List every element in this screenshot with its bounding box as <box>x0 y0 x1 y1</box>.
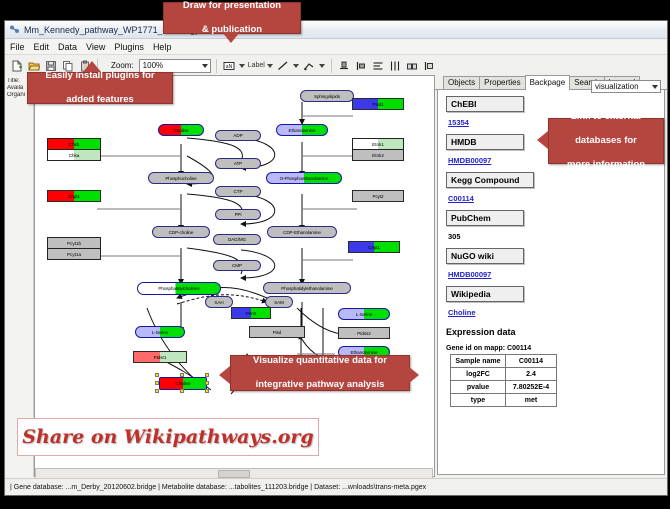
callout-easily-install-plugins: Easily install plugins for added feature… <box>27 72 173 104</box>
table-row: type met <box>451 394 557 407</box>
line-icon[interactable] <box>276 58 291 73</box>
node-label: SAM <box>274 300 284 305</box>
gene-pcyt1b[interactable]: Pcyt1b <box>48 238 100 248</box>
gene-pcyt2[interactable]: Pcyt2 <box>352 190 404 202</box>
menu-item-file[interactable]: File <box>10 42 25 52</box>
node-choline-top[interactable]: Choline <box>158 124 204 136</box>
node-phosphocholine[interactable]: Phosphocholine <box>148 172 214 184</box>
callout-visualize-quantitative-data: Visualize quantitative data for integrat… <box>230 355 410 391</box>
share-banner-text: Share on Wikipathways.org <box>22 426 313 448</box>
size-match-icon[interactable] <box>405 58 420 73</box>
db-header-wikipedia: Wikipedia <box>446 286 524 302</box>
node-label: PPi <box>235 212 242 217</box>
menu-item-help[interactable]: Help <box>153 42 172 52</box>
node-label: Phosphocholine <box>165 176 196 181</box>
callout-link-to-external-databases: Link to external databases for more info… <box>548 118 664 164</box>
node-label: Choline <box>176 381 191 386</box>
gene-label: Chkb <box>69 142 80 147</box>
db-link-kegg[interactable]: C00114 <box>448 194 474 203</box>
node-phosphatidylethanolamine[interactable]: Phosphatidylethanolamine <box>263 282 351 294</box>
scrollbar-thumb[interactable] <box>218 470 250 478</box>
expr-key: type <box>451 394 506 407</box>
callout-arrow-right-visualize <box>408 366 419 384</box>
node-label: Phosphatidylethanolamine <box>281 286 333 291</box>
gene-pisd[interactable]: Pisd <box>249 326 305 338</box>
node-label: CDP-choline <box>169 230 194 235</box>
db-header-hmdb: HMDB <box>446 134 524 150</box>
label-dropdown-label: Label <box>248 62 265 69</box>
gene-ptdss2[interactable]: Ptdss2 <box>338 327 390 339</box>
expr-key: Sample name <box>451 355 506 368</box>
interaction-dropdown[interactable] <box>319 59 326 73</box>
gene-box-chk[interactable]: Chkb Chka <box>47 138 101 161</box>
title-bar: Mm_Kennedy_pathway_WP1771_45176.gpml <box>5 21 667 39</box>
gene-box-pcyt1[interactable]: Pcyt1b Pcyt1a <box>47 237 101 260</box>
toolbar-separator <box>331 59 332 73</box>
db-link-nugo[interactable]: HMDB00097 <box>448 270 491 279</box>
stack-icon[interactable] <box>422 58 437 73</box>
node-sah[interactable]: SAH <box>205 296 233 308</box>
db-header-nugo: NuGO wiki <box>446 248 524 264</box>
node-label: ADP <box>233 133 242 138</box>
gene-label: Etnk1 <box>372 142 384 147</box>
node-ppi[interactable]: PPi <box>215 209 261 220</box>
pathway-info-strip: Title: Availa Organi <box>5 75 34 477</box>
node-label: CDP-Ethanolamine <box>283 230 321 235</box>
gene-chkb[interactable]: Chkb <box>48 139 100 149</box>
node-adp[interactable]: ADP <box>215 130 261 141</box>
gene-label: Ptdsr1 <box>154 355 167 360</box>
gene-label: Pcyt2 <box>373 194 384 199</box>
expression-table: Sample name C00114 log2FC 2.4 pvalue 7.8… <box>450 354 557 407</box>
gene-pcyt1a[interactable]: Pcyt1a <box>48 248 100 259</box>
gene-label: Pcyt1b <box>67 241 81 246</box>
tab-properties[interactable]: Properties <box>479 76 525 89</box>
node-label: Phosphatidylcholines <box>158 286 199 291</box>
node-ethanolamine-top[interactable]: Ethanolamine <box>276 124 328 136</box>
node-dag-mg[interactable]: DAG/MG <box>213 234 261 245</box>
menu-item-view[interactable]: View <box>86 42 105 52</box>
distribute-horizontal-icon[interactable] <box>388 58 403 73</box>
toolbar-separator <box>216 59 217 73</box>
tab-objects[interactable]: Objects <box>443 76 480 89</box>
pathvisio-icon <box>9 24 20 35</box>
node-atp[interactable]: ATP <box>215 158 261 169</box>
menu-bar[interactable]: File Edit Data View Plugins Help <box>5 39 667 55</box>
callout-arrow-up-plugins <box>83 61 101 72</box>
node-label: CTP <box>234 189 243 194</box>
db-link-hmdb[interactable]: HMDB00097 <box>448 156 491 165</box>
expr-key: log2FC <box>451 368 506 381</box>
callout-arrow-down <box>222 32 240 43</box>
expr-value: C00114 <box>506 355 557 368</box>
callout-line: Visualize quantitative data for <box>253 355 387 367</box>
interaction-icon[interactable] <box>302 58 317 73</box>
tab-backpage[interactable]: Backpage <box>525 75 571 90</box>
gene-etnk1[interactable]: Etnk1 <box>353 139 403 149</box>
share-banner: Share on Wikipathways.org <box>17 418 319 456</box>
node-label: Ethanolamine <box>351 350 378 355</box>
gene-pemt[interactable]: Pemt <box>231 307 271 319</box>
table-row: Sample name C00114 <box>451 355 557 368</box>
distribute-vertical-icon[interactable] <box>371 58 386 73</box>
db-value-pubchem: 305 <box>448 232 461 241</box>
gene-box-etnk[interactable]: Etnk1 Etnk2 <box>352 138 404 161</box>
expr-value: 7.80252E-4 <box>506 381 557 394</box>
node-l-serine-right[interactable]: L-Serine <box>338 308 390 320</box>
align-top-icon[interactable] <box>337 58 352 73</box>
node-l-serine-left[interactable]: L-Serine <box>135 326 185 338</box>
expr-value: 2.4 <box>506 368 557 381</box>
db-header-chebi: ChEBI <box>446 96 524 112</box>
status-bar: | Gene database: ...m_Derby_20120602.bri… <box>5 478 667 495</box>
gene-label: Pisd1 <box>373 102 384 107</box>
callout-line: added features <box>45 94 154 106</box>
node-label: CMP <box>232 263 242 268</box>
expression-data-heading: Expression data <box>446 327 664 337</box>
callout-line: more information <box>567 159 645 171</box>
db-link-wikipedia[interactable]: Choline <box>448 308 476 317</box>
gene-chka[interactable]: Chka <box>48 149 100 160</box>
gene-chpt1[interactable]: Chpt1 <box>47 190 101 202</box>
db-header-kegg: Kegg Compound <box>446 172 534 188</box>
zoom-label: Zoom: <box>111 61 134 70</box>
node-o-phosphoethanolamine[interactable]: O-Phosphoethanolamine <box>266 172 342 184</box>
node-label: L-Serine <box>152 330 169 335</box>
label-dropdown[interactable] <box>267 59 274 73</box>
callout-draw-for-presentation: Draw for presentation & publication <box>163 2 301 34</box>
db-header-pubchem: PubChem <box>446 210 524 226</box>
chevron-down-icon[interactable] <box>652 85 658 89</box>
menu-item-edit[interactable]: Edit <box>34 42 50 52</box>
visualization-combo-value: visualization <box>595 82 639 91</box>
svg-text:aN: aN <box>226 63 233 69</box>
node-label: Ethanolamine <box>289 128 316 133</box>
gene-label: Cept1 <box>368 245 380 250</box>
gene-label: Chpt1 <box>68 194 80 199</box>
table-row: log2FC 2.4 <box>451 368 557 381</box>
gene-label: Pcyt1a <box>67 252 81 257</box>
node-cmp[interactable]: CMP <box>213 260 261 271</box>
gene-etnk2[interactable]: Etnk2 <box>353 149 403 160</box>
node-cdp-choline[interactable]: CDP-choline <box>152 226 210 238</box>
open-folder-icon[interactable] <box>26 58 41 73</box>
node-label: SAH <box>214 300 223 305</box>
new-document-icon[interactable] <box>9 58 24 73</box>
callout-arrow-left-databases <box>537 131 548 149</box>
callout-line: Link to external <box>567 111 645 123</box>
gene-label: Pemt <box>246 311 256 316</box>
node-label: DAG/MG <box>228 237 246 242</box>
pathway-canvas[interactable]: Sphingolipids Choline Ethanolamine ADP A… <box>34 75 435 477</box>
screen-root: Mm_Kennedy_pathway_WP1771_45176.gpml Fil… <box>0 0 670 509</box>
node-label: L-Serine <box>356 312 373 317</box>
status-bar-text: | Gene database: ...m_Derby_20120602.bri… <box>5 484 426 491</box>
expr-key: pvalue <box>451 381 506 394</box>
datanode-dropdown[interactable] <box>239 59 246 73</box>
visualization-combo[interactable]: visualization <box>591 80 661 93</box>
align-left-icon[interactable] <box>354 58 369 73</box>
node-label: O-Phosphoethanolamine <box>280 176 329 181</box>
node-phosphatidylcholines[interactable]: Phosphatidylcholines <box>137 282 221 295</box>
menu-item-plugins[interactable]: Plugins <box>114 42 144 52</box>
menu-item-data[interactable]: Data <box>58 42 77 52</box>
gene-label: Chka <box>69 153 80 158</box>
node-label: Choline <box>174 128 189 133</box>
gene-label: Etnk2 <box>372 153 384 158</box>
db-link-chebi[interactable]: 15354 <box>448 118 469 127</box>
node-label: Sphingolipids <box>314 94 340 99</box>
gene-cept1[interactable]: Cept1 <box>348 241 400 253</box>
gene-pisd1[interactable]: Pisd1 <box>352 98 404 110</box>
callout-arrow-left-visualize <box>219 366 230 384</box>
callout-line: Draw for presentation <box>183 0 281 12</box>
pathway-drawing[interactable]: Sphingolipids Choline Ethanolamine ADP A… <box>35 76 434 476</box>
zoom-value: 100% <box>143 61 163 70</box>
line-dropdown[interactable] <box>293 59 300 73</box>
gene-ptdsr1[interactable]: Ptdsr1 <box>133 351 187 363</box>
callout-line: databases for <box>567 135 645 147</box>
table-row: pvalue 7.80252E-4 <box>451 381 557 394</box>
gene-label: Ptdss2 <box>357 331 370 336</box>
datanode-icon[interactable]: aN <box>222 58 237 73</box>
chevron-down-icon[interactable] <box>202 64 208 68</box>
node-ctp[interactable]: CTP <box>215 186 261 197</box>
callout-line: integrative pathway analysis <box>253 379 387 391</box>
gene-id-line: Gene id on mapp: C00114 <box>446 345 664 352</box>
node-cdp-ethanolamine[interactable]: CDP-Ethanolamine <box>267 226 337 238</box>
node-sphingolipids[interactable]: Sphingolipids <box>300 90 354 102</box>
gene-label: Pisd <box>273 330 282 335</box>
node-label: ATP <box>234 161 242 166</box>
expr-value: met <box>506 394 557 407</box>
